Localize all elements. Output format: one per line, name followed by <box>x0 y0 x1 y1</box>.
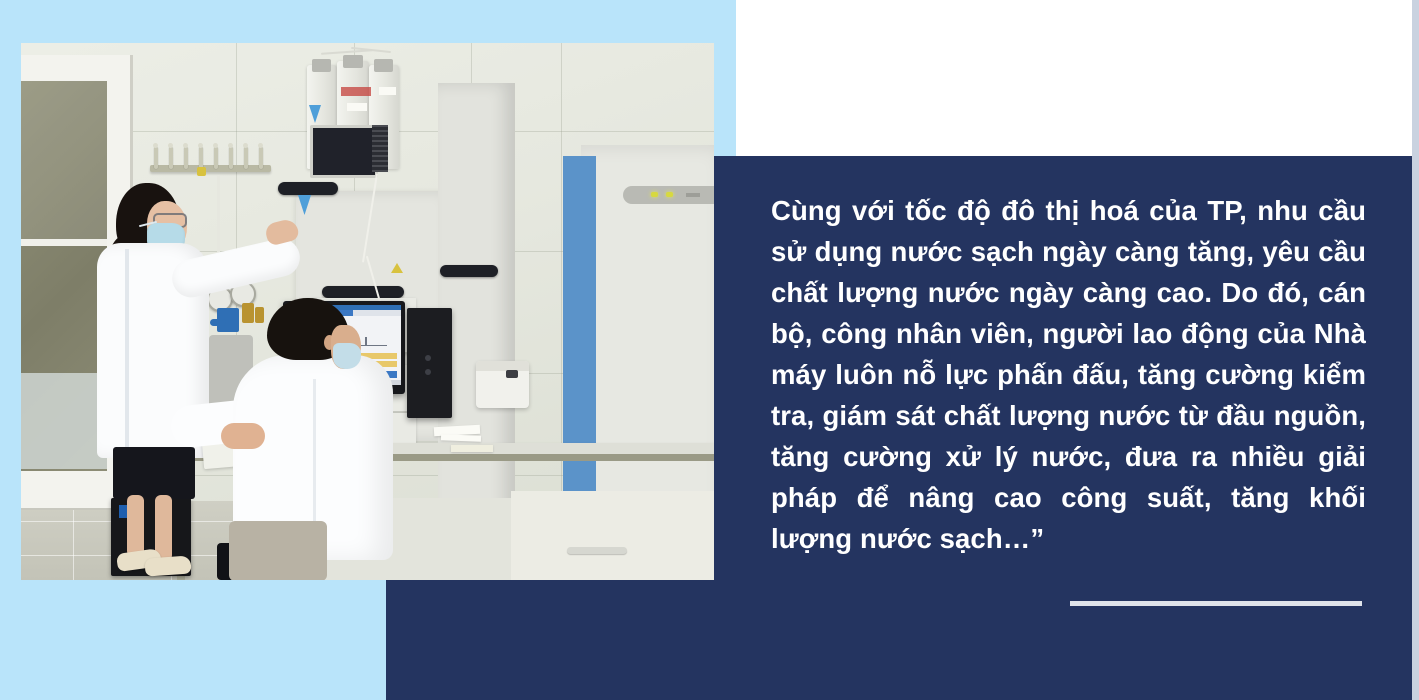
quote-divider-rule <box>1070 601 1362 606</box>
rack-peg <box>259 147 263 169</box>
man-trousers <box>229 521 327 580</box>
instrument-module-band <box>322 286 404 298</box>
woman-skirt <box>113 447 195 499</box>
bench-drawer-handle <box>567 547 627 554</box>
instrument-tall-module <box>438 83 515 528</box>
bottle-label <box>341 87 371 96</box>
page-canvas: Cùng với tốc độ đô thị hoá của TP, nhu c… <box>0 0 1419 700</box>
rack-peg-tip <box>198 143 203 148</box>
woman-sandal <box>144 555 191 576</box>
man-hand <box>221 423 265 449</box>
tower-drive-slot <box>425 369 431 375</box>
door-glass-highlight <box>21 81 107 241</box>
rack-peg <box>244 147 248 169</box>
regulator-fitting <box>255 307 264 323</box>
rack-peg <box>214 147 218 169</box>
quote-text: Cùng với tốc độ đô thị hoá của TP, nhu c… <box>771 190 1366 559</box>
cabinet-blue-fascia <box>563 156 596 524</box>
cabinet-label <box>686 193 700 197</box>
woman-leg <box>127 495 144 557</box>
status-led <box>666 192 673 197</box>
right-edge-strip <box>1412 0 1419 700</box>
instrument-module-band <box>440 265 498 277</box>
rack-peg-tip <box>183 143 188 148</box>
rack-peg <box>169 147 173 169</box>
bottle-cap <box>312 59 331 72</box>
tile-grout-line <box>131 131 714 132</box>
woman-coat-seam <box>125 249 129 449</box>
pull-quote: Cùng với tốc độ đô thị hoá của TP, nhu c… <box>771 190 1366 559</box>
door-lower-pane <box>21 373 107 469</box>
rack-peg-tip <box>153 143 158 148</box>
instrument-module-band <box>278 182 338 195</box>
regulator-knob <box>210 319 226 326</box>
rack-peg <box>199 147 203 169</box>
tower-power-button <box>425 355 431 361</box>
paper-stack <box>451 445 493 452</box>
printer-lid <box>476 361 529 371</box>
floor-tile-line <box>73 501 74 580</box>
status-led <box>651 192 658 197</box>
regulator-fitting <box>242 303 254 323</box>
rack-peg <box>229 147 233 169</box>
rack-peg-tip <box>168 143 173 148</box>
rack-yellow-fitting <box>197 167 206 176</box>
rack-peg <box>154 147 158 169</box>
man-face-mask <box>333 343 361 369</box>
bottle-label <box>347 103 367 111</box>
instrument-warning-label <box>391 263 403 273</box>
desktop-tower <box>407 308 452 418</box>
bottle-label <box>379 87 396 95</box>
printer-tray <box>506 370 518 378</box>
chromatogram-peak <box>365 337 367 346</box>
rack-peg-tip <box>228 143 233 148</box>
rack-peg-tip <box>258 143 263 148</box>
bottle-cap <box>343 55 363 68</box>
bench-cabinet <box>511 491 714 580</box>
rack-peg-tip <box>213 143 218 148</box>
rack-peg-tip <box>243 143 248 148</box>
instrument-display <box>310 125 378 178</box>
instrument-vent <box>372 125 388 172</box>
door-rail <box>21 239 107 246</box>
bottle-cap <box>374 59 393 72</box>
laboratory-photo <box>21 43 714 580</box>
rack-peg <box>184 147 188 169</box>
